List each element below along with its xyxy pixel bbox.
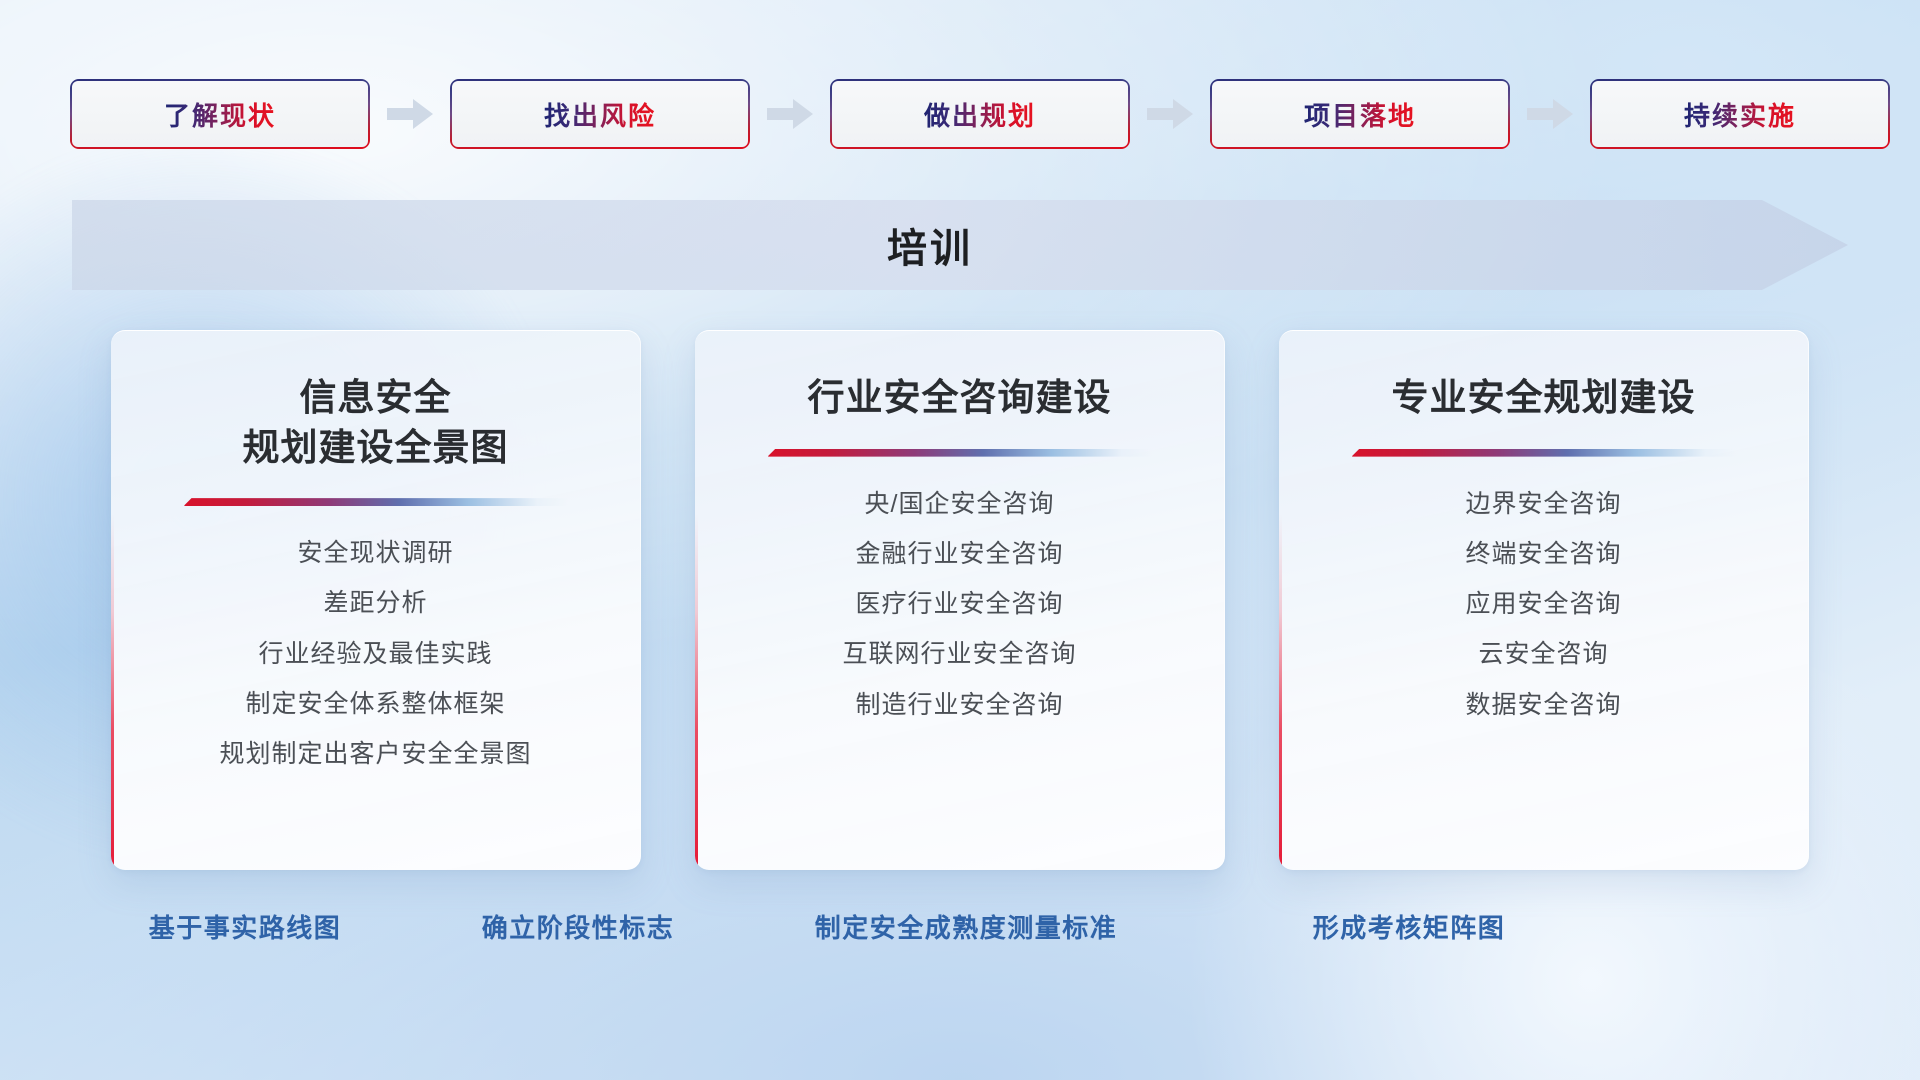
list-item: 制定安全体系整体框架 bbox=[141, 691, 610, 717]
card-divider bbox=[768, 449, 1152, 457]
card-item-list: 央/国企安全咨询 金融行业安全咨询 医疗行业安全咨询 互联网行业安全咨询 制造行… bbox=[725, 491, 1194, 742]
list-item: 边界安全咨询 bbox=[1309, 491, 1778, 517]
card-item-list: 安全现状调研 差距分析 行业经验及最佳实践 制定安全体系整体框架 规划制定出客户… bbox=[141, 540, 610, 791]
caption-assessment-matrix: 形成考核矩阵图 bbox=[1313, 908, 1506, 945]
caption-maturity-standard: 制定安全成熟度测量标准 bbox=[815, 908, 1118, 945]
slide-canvas: 了解现状 找出风险 做出规划 项目落地 bbox=[0, 0, 1920, 1080]
list-item: 云安全咨询 bbox=[1309, 641, 1778, 667]
step-box-3[interactable]: 做出规划 bbox=[830, 79, 1130, 149]
card-professional-planning[interactable]: 专业安全规划建设 边界安全咨询 终端安全咨询 应用安全咨询 云安全咨询 数据安全… bbox=[1279, 330, 1809, 870]
caption-row: 基于事实路线图 确立阶段性标志 制定安全成熟度测量标准 形成考核矩阵图 bbox=[0, 908, 1920, 954]
training-banner: 培训 bbox=[72, 200, 1848, 290]
step-label: 项目落地 bbox=[1304, 96, 1416, 133]
banner-label: 培训 bbox=[72, 200, 1848, 290]
card-panorama[interactable]: 信息安全 规划建设全景图 安全现状调研 差距分析 行业经验及最佳实践 制定安全体… bbox=[111, 330, 641, 870]
step-label: 找出风险 bbox=[544, 96, 656, 133]
list-item: 安全现状调研 bbox=[141, 540, 610, 566]
list-item: 差距分析 bbox=[141, 590, 610, 616]
card-title: 信息安全 规划建设全景图 bbox=[243, 373, 509, 472]
card-title: 专业安全规划建设 bbox=[1392, 373, 1696, 423]
list-item: 制造行业安全咨询 bbox=[725, 692, 1194, 718]
arrow-right-icon bbox=[764, 97, 816, 131]
step-box-2[interactable]: 找出风险 bbox=[450, 79, 750, 149]
step-flow: 了解现状 找出风险 做出规划 项目落地 bbox=[70, 78, 1860, 150]
step-label: 做出规划 bbox=[924, 96, 1036, 133]
caption-milestones: 确立阶段性标志 bbox=[482, 908, 675, 945]
arrow-right-icon bbox=[1144, 97, 1196, 131]
card-group: 信息安全 规划建设全景图 安全现状调研 差距分析 行业经验及最佳实践 制定安全体… bbox=[0, 330, 1920, 875]
list-item: 终端安全咨询 bbox=[1309, 541, 1778, 567]
card-industry-consulting[interactable]: 行业安全咨询建设 央/国企安全咨询 金融行业安全咨询 医疗行业安全咨询 互联网行… bbox=[695, 330, 1225, 870]
card-left-accent bbox=[695, 331, 698, 870]
step-box-1[interactable]: 了解现状 bbox=[70, 79, 370, 149]
card-left-accent bbox=[111, 331, 114, 870]
card-title: 行业安全咨询建设 bbox=[808, 373, 1112, 423]
arrow-right-icon bbox=[384, 97, 436, 131]
caption-roadmap: 基于事实路线图 bbox=[149, 908, 342, 945]
list-item: 数据安全咨询 bbox=[1309, 692, 1778, 718]
list-item: 互联网行业安全咨询 bbox=[725, 641, 1194, 667]
step-label: 了解现状 bbox=[164, 96, 276, 133]
arrow-right-icon bbox=[1524, 97, 1576, 131]
card-item-list: 边界安全咨询 终端安全咨询 应用安全咨询 云安全咨询 数据安全咨询 bbox=[1309, 491, 1778, 742]
list-item: 应用安全咨询 bbox=[1309, 591, 1778, 617]
card-divider bbox=[1352, 449, 1736, 457]
step-box-5[interactable]: 持续实施 bbox=[1590, 79, 1890, 149]
step-box-4[interactable]: 项目落地 bbox=[1210, 79, 1510, 149]
card-divider bbox=[184, 498, 568, 506]
list-item: 央/国企安全咨询 bbox=[725, 491, 1194, 517]
step-label: 持续实施 bbox=[1684, 96, 1796, 133]
list-item: 行业经验及最佳实践 bbox=[141, 641, 610, 667]
card-left-accent bbox=[1279, 331, 1282, 870]
list-item: 规划制定出客户安全全景图 bbox=[141, 741, 610, 767]
list-item: 金融行业安全咨询 bbox=[725, 541, 1194, 567]
list-item: 医疗行业安全咨询 bbox=[725, 591, 1194, 617]
